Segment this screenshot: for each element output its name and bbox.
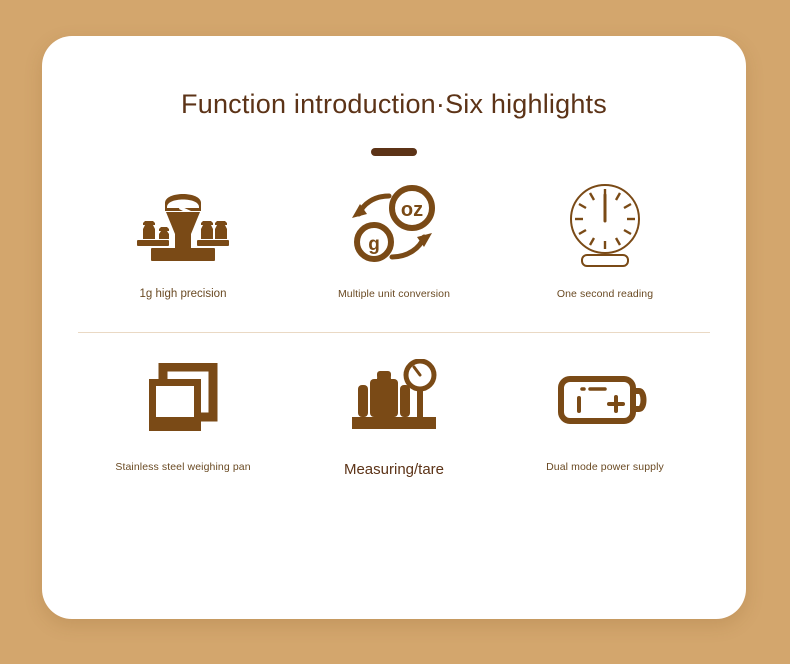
feature-grid: 1g high precision oz g [42, 178, 746, 511]
feature-label: Dual mode power supply [546, 461, 664, 473]
feature-row-top: 1g high precision oz g [42, 178, 746, 326]
feature-item-precision[interactable]: 1g high precision [78, 178, 288, 300]
title-underline-rule [371, 148, 417, 156]
feature-item-unit-conversion[interactable]: oz g Multiple unit conversion [289, 178, 499, 300]
feature-label: Measuring/tare [344, 461, 444, 478]
feature-row-bottom: Stainless steel weighing pan [42, 333, 746, 511]
feature-label: One second reading [557, 288, 653, 300]
luggage-platform-scale-icon [348, 351, 440, 447]
unit-conversion-g-oz-icon: oz g [348, 178, 440, 274]
unit-to-label: oz [401, 199, 423, 221]
feature-label: Stainless steel weighing pan [115, 461, 250, 473]
feature-item-measuring-tare[interactable]: Measuring/tare [289, 351, 499, 478]
feature-card: Function introduction·Six highlights [42, 36, 746, 619]
feature-label: 1g high precision [140, 288, 227, 300]
feature-item-weighing-pan[interactable]: Stainless steel weighing pan [78, 351, 288, 473]
balance-scale-weights-icon [135, 178, 231, 274]
battery-icon [557, 351, 653, 447]
feature-item-one-second-reading[interactable]: One second reading [500, 178, 710, 300]
feature-label: Multiple unit conversion [338, 288, 450, 300]
page-title: Function introduction·Six highlights [42, 36, 746, 120]
unit-from-label: g [368, 234, 380, 255]
clock-stand-icon [564, 178, 646, 274]
stacked-square-pans-icon [145, 351, 221, 447]
page-root: Function introduction·Six highlights [0, 0, 790, 664]
feature-item-power-supply[interactable]: Dual mode power supply [500, 351, 710, 473]
